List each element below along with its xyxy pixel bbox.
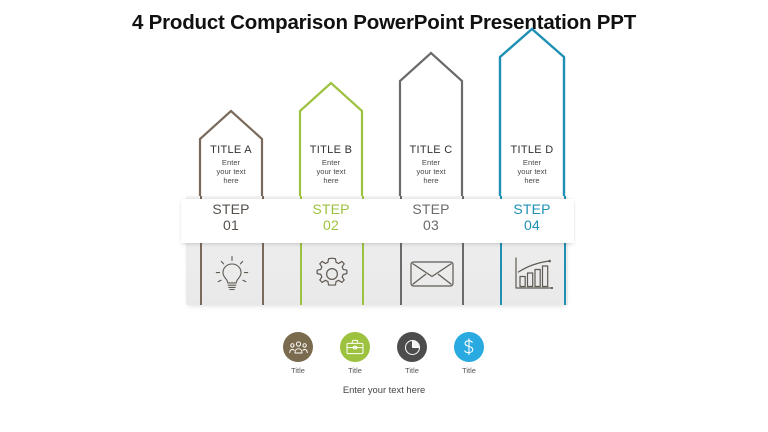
arrow-subtitle-line: here — [298, 176, 364, 185]
pie-chart-icon — [404, 339, 421, 356]
gear-icon — [312, 254, 352, 294]
icon-cell-a[interactable] — [202, 248, 262, 300]
arrow-title-d: TITLE D — [498, 144, 566, 156]
legend-circle-3 — [397, 332, 427, 362]
legend-item-1[interactable]: Title — [270, 332, 326, 375]
step-number-01: 01 — [198, 217, 264, 233]
step-cell-03[interactable]: STEP 03 — [398, 201, 464, 241]
dollar-icon — [462, 338, 476, 356]
arrow-column-b[interactable]: TITLE B Enter your text here — [298, 80, 364, 200]
people-group-icon — [289, 340, 308, 355]
arrow-title-c: TITLE C — [398, 144, 464, 156]
legend-label-3: Title — [384, 366, 440, 375]
icon-cell-b[interactable] — [302, 248, 362, 300]
lightbulb-icon — [213, 254, 251, 294]
arrow-text-d: TITLE D Enter your text here — [498, 144, 566, 186]
arrow-subtitle-line: Enter — [498, 158, 566, 167]
legend-item-4[interactable]: Title — [441, 332, 497, 375]
arrow-subtitle-b: Enter your text here — [298, 158, 364, 186]
arrow-subtitle-a: Enter your text here — [198, 158, 264, 186]
arrow-column-c[interactable]: TITLE C Enter your text here — [398, 50, 464, 200]
step-number-03: 03 — [398, 217, 464, 233]
arrow-subtitle-line: your text — [498, 167, 566, 176]
arrow-subtitle-line: here — [498, 176, 566, 185]
arrow-text-c: TITLE C Enter your text here — [398, 144, 464, 186]
arrow-subtitle-line: Enter — [298, 158, 364, 167]
step-word-03: STEP — [398, 201, 464, 217]
arrow-subtitle-line: Enter — [198, 158, 264, 167]
step-cell-01[interactable]: STEP 01 — [198, 201, 264, 241]
legend-circle-4 — [454, 332, 484, 362]
briefcase-icon — [346, 339, 364, 355]
legend-item-2[interactable]: Title — [327, 332, 383, 375]
legend-circle-2 — [340, 332, 370, 362]
icon-cell-d[interactable] — [502, 248, 564, 300]
step-word-02: STEP — [298, 201, 364, 217]
step-number-04: 04 — [499, 217, 565, 233]
legend-circle-1 — [283, 332, 313, 362]
arrow-column-d[interactable]: TITLE D Enter your text here — [498, 26, 566, 200]
arrow-subtitle-line: your text — [198, 167, 264, 176]
icon-cell-c[interactable] — [402, 248, 462, 300]
envelope-icon — [409, 258, 455, 290]
step-word-04: STEP — [499, 201, 565, 217]
arrow-text-b: TITLE B Enter your text here — [298, 144, 364, 186]
arrow-subtitle-c: Enter your text here — [398, 158, 464, 186]
legend-label-1: Title — [270, 366, 326, 375]
arrow-subtitle-line: here — [198, 176, 264, 185]
legend-label-2: Title — [327, 366, 383, 375]
step-word-01: STEP — [198, 201, 264, 217]
legend-note: Enter your text here — [0, 384, 768, 395]
step-cell-02[interactable]: STEP 02 — [298, 201, 364, 241]
legend-item-3[interactable]: Title — [384, 332, 440, 375]
step-number-02: 02 — [298, 217, 364, 233]
step-cell-04[interactable]: STEP 04 — [499, 201, 565, 241]
arrow-subtitle-line: Enter — [398, 158, 464, 167]
slide-canvas: 4 Product Comparison PowerPoint Presenta… — [0, 0, 768, 432]
bar-chart-icon — [511, 255, 555, 293]
arrow-column-a[interactable]: TITLE A Enter your text here — [198, 108, 264, 200]
arrow-text-a: TITLE A Enter your text here — [198, 144, 264, 186]
legend-label-4: Title — [441, 366, 497, 375]
arrow-title-a: TITLE A — [198, 144, 264, 156]
arrow-subtitle-line: your text — [398, 167, 464, 176]
arrow-subtitle-line: here — [398, 176, 464, 185]
arrow-title-b: TITLE B — [298, 144, 364, 156]
arrow-subtitle-d: Enter your text here — [498, 158, 566, 186]
arrow-subtitle-line: your text — [298, 167, 364, 176]
